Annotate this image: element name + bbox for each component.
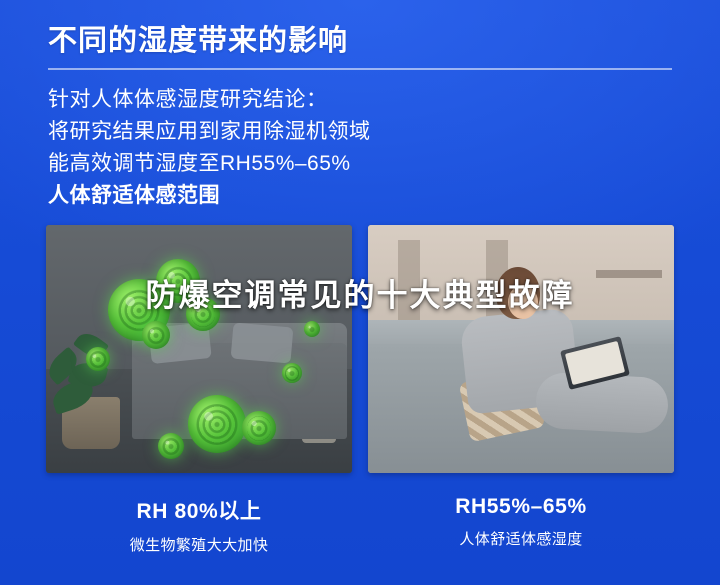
caption-row: RH 80%以上 微生物繁殖大大加快 RH55%–65% 人体舒适体感湿度 <box>0 495 720 555</box>
body-line-4: 人体舒适体感范围 <box>48 180 674 212</box>
title-divider <box>48 68 672 70</box>
page-title: 不同的湿度带来的影响 <box>48 24 674 59</box>
photo-left-microbes <box>46 225 352 473</box>
body-line-2: 将研究结果应用到家用除湿机领域 <box>48 116 674 148</box>
poster-root: 不同的湿度带来的影响 针对人体体感湿度研究结论： 将研究结果应用到家用除湿机领域… <box>0 0 720 585</box>
body-line-1: 针对人体体感湿度研究结论： <box>48 84 674 116</box>
photo-right-comfort <box>368 225 674 473</box>
body-line-3: 能高效调节湿度至RH55%–65% <box>48 148 674 180</box>
caption-left: RH 80%以上 微生物繁殖大大加快 <box>46 495 352 555</box>
caption-left-sub: 微生物繁殖大大加快 <box>46 534 352 555</box>
caption-right: RH55%–65% 人体舒适体感湿度 <box>368 495 674 555</box>
wall-shelf <box>596 270 662 278</box>
sofa-cushion <box>231 323 294 364</box>
caption-right-title: RH55%–65% <box>368 495 674 519</box>
caption-right-sub: 人体舒适体感湿度 <box>368 528 674 549</box>
body-text: 针对人体体感湿度研究结论： 将研究结果应用到家用除湿机领域 能高效调节湿度至RH… <box>48 84 674 212</box>
photo-row <box>0 225 720 473</box>
caption-left-title: RH 80%以上 <box>46 495 352 525</box>
poster-text-block: 不同的湿度带来的影响 针对人体体感湿度研究结论： 将研究结果应用到家用除湿机领域… <box>0 0 720 211</box>
